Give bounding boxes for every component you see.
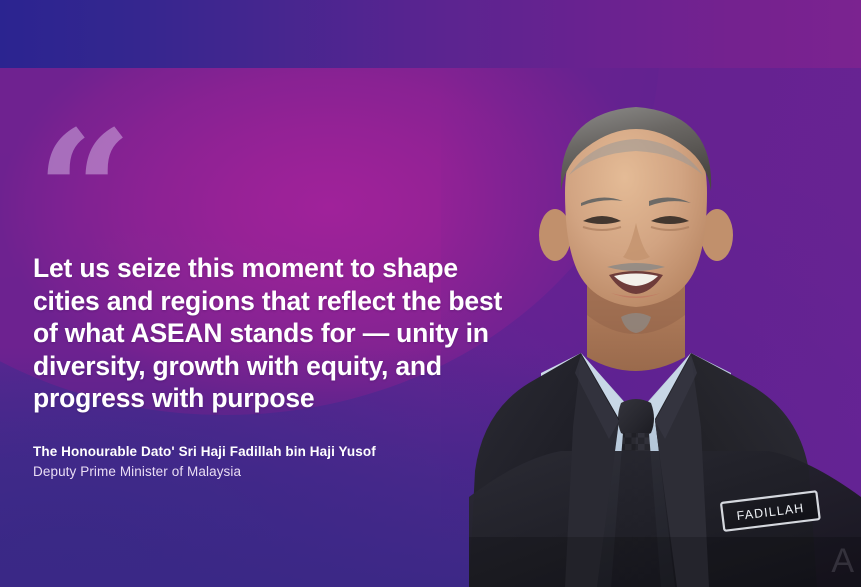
attribution-block: The Honourable Dato' Sri Haji Fadillah b… [33, 443, 503, 481]
quote-slide: “ [0, 0, 861, 587]
portrait-image: FADILLAH [469, 67, 861, 587]
attribution-name: The Honourable Dato' Sri Haji Fadillah b… [33, 443, 503, 461]
quote-mark-icon: “ [36, 108, 135, 276]
corner-watermark: A [831, 542, 855, 581]
quote-block: Let us seize this moment to shape cities… [33, 252, 503, 415]
attribution-role: Deputy Prime Minister of Malaysia [33, 463, 503, 481]
quote-text: Let us seize this moment to shape cities… [33, 252, 503, 415]
top-gradient-band [0, 0, 861, 68]
